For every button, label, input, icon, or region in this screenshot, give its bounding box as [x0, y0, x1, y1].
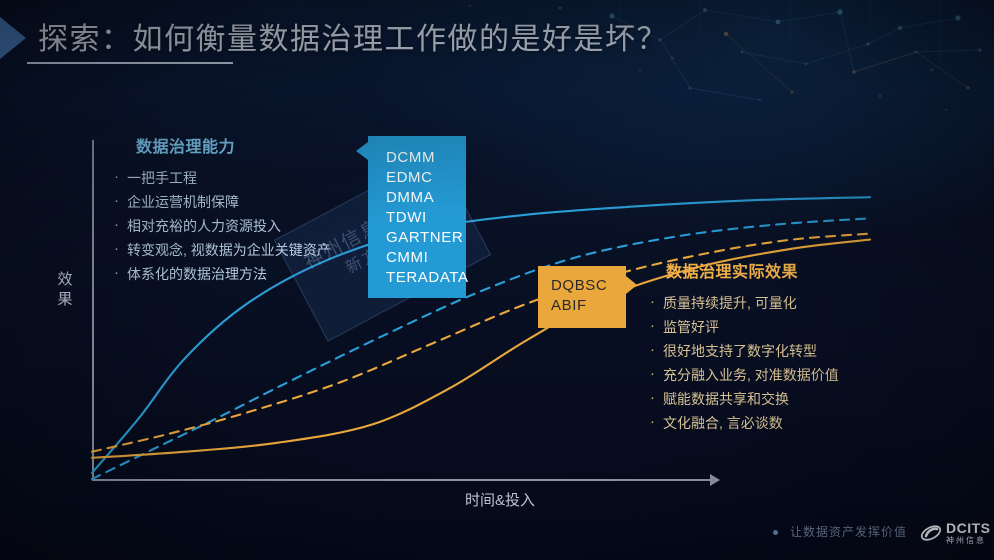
vignette-overlay [0, 0, 994, 560]
slide-root: 探索：如何衡量数据治理工作做的是好是坏？ 效果 时间&投入 神州信息 新方志 数… [0, 0, 994, 560]
